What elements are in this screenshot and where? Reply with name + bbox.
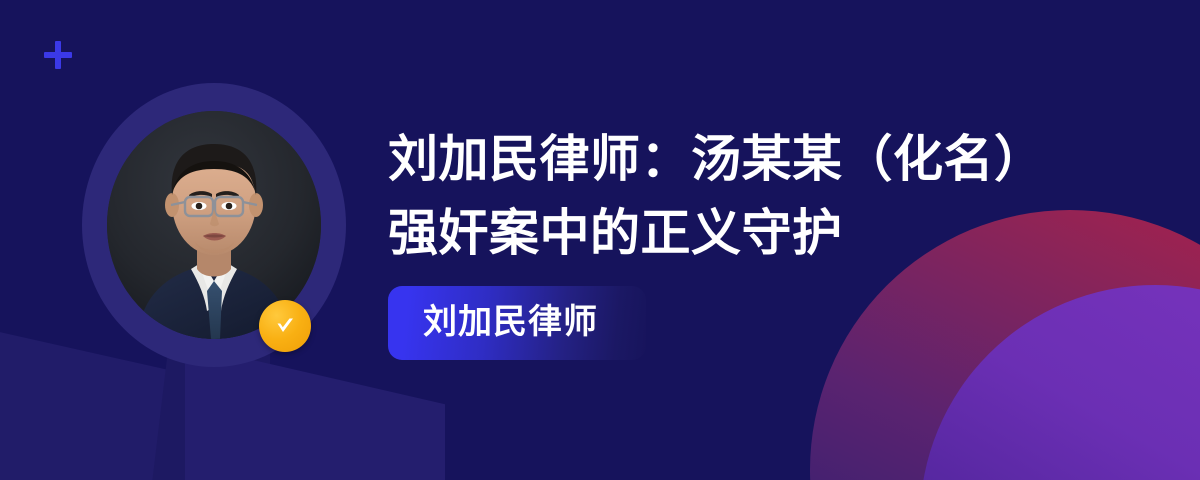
author-button[interactable]: 刘加民律师	[388, 286, 646, 360]
avatar[interactable]	[82, 83, 346, 367]
banner-content: 刘加民律师：汤某某（化名）强奸案中的正义守护 刘加民律师	[388, 122, 1078, 360]
plus-icon	[44, 41, 72, 69]
verified-check-icon	[259, 300, 311, 352]
article-banner: 刘加民律师：汤某某（化名）强奸案中的正义守护 刘加民律师	[0, 0, 1200, 480]
page-title: 刘加民律师：汤某某（化名）强奸案中的正义守护	[388, 122, 1078, 270]
